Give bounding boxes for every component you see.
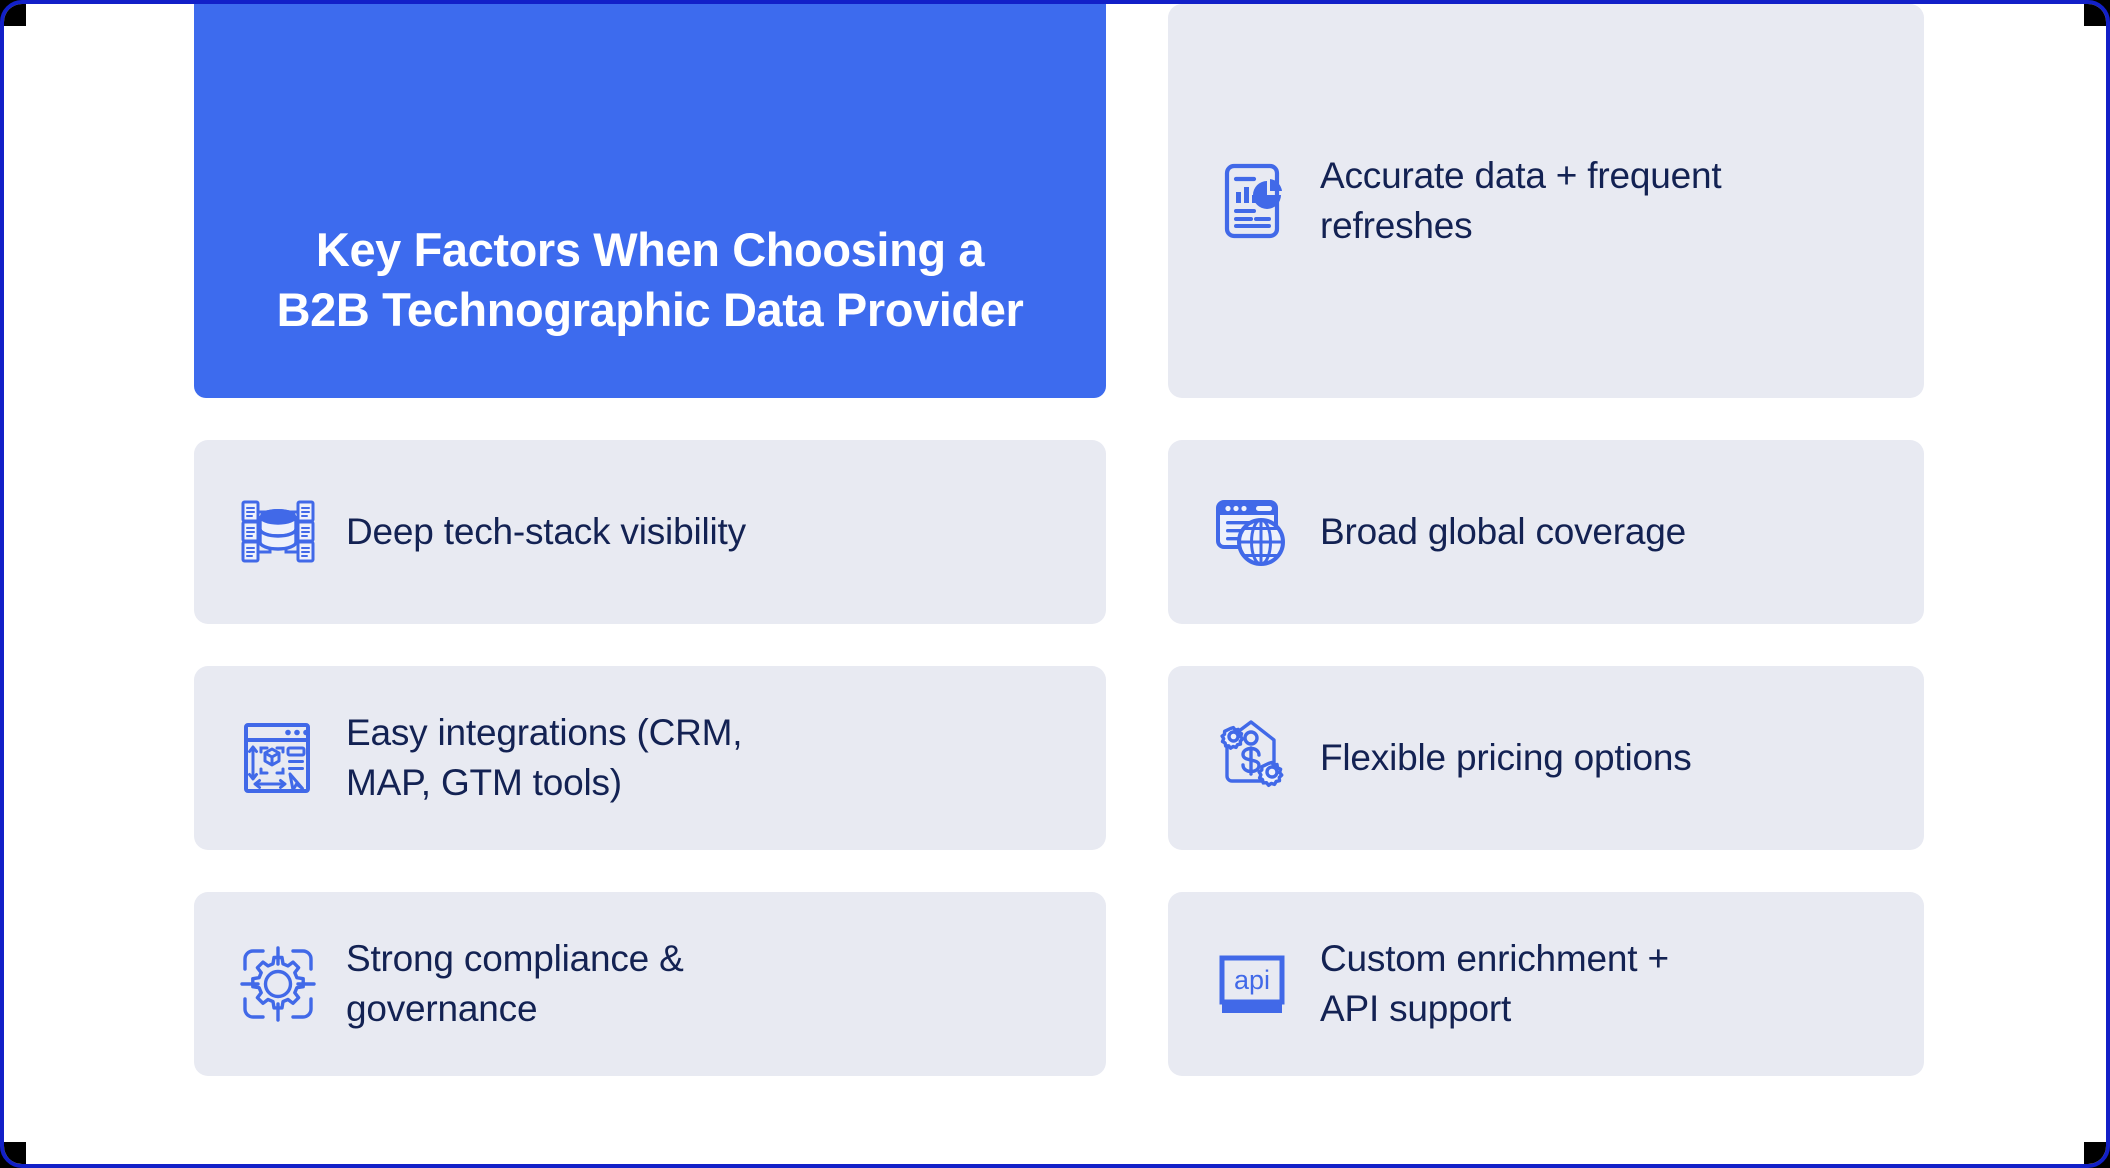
infographic-frame: Key Factors When Choosing a B2B Technogr… xyxy=(0,0,2110,1168)
card-compliance-governance[interactable]: Strong compliance & governance xyxy=(194,892,1106,1076)
database-network-icon xyxy=(236,490,320,574)
card-label: Flexible pricing options xyxy=(1320,733,1692,783)
card-tech-stack-visibility[interactable]: Deep tech-stack visibility xyxy=(194,440,1106,624)
card-flexible-pricing[interactable]: Flexible pricing options xyxy=(1168,666,1924,850)
card-easy-integrations[interactable]: Easy integrations (CRM, MAP, GTM tools) xyxy=(194,666,1106,850)
infographic-grid: Key Factors When Choosing a B2B Technogr… xyxy=(4,4,2110,1168)
title-card: Key Factors When Choosing a B2B Technogr… xyxy=(194,4,1106,398)
browser-cube-cursor-icon xyxy=(236,716,320,800)
card-label: Deep tech-stack visibility xyxy=(346,507,746,557)
card-label: Strong compliance & governance xyxy=(346,934,684,1033)
card-label: Accurate data + frequent refreshes xyxy=(1320,151,1721,250)
card-custom-enrichment-api[interactable]: api Custom enrichment + API support xyxy=(1168,892,1924,1076)
card-accurate-data[interactable]: Accurate data + frequent refreshes xyxy=(1168,4,1924,398)
gear-crosshair-icon xyxy=(236,942,320,1026)
api-icon-text: api xyxy=(1234,965,1270,995)
card-label: Broad global coverage xyxy=(1320,507,1686,557)
card-global-coverage[interactable]: Broad global coverage xyxy=(1168,440,1924,624)
api-window-icon: api xyxy=(1210,942,1294,1026)
report-chart-document-icon xyxy=(1210,159,1294,243)
price-tag-gears-icon xyxy=(1210,716,1294,800)
browser-globe-icon xyxy=(1210,490,1294,574)
page-title: Key Factors When Choosing a B2B Technogr… xyxy=(277,220,1024,340)
card-label: Custom enrichment + API support xyxy=(1320,934,1669,1033)
card-label: Easy integrations (CRM, MAP, GTM tools) xyxy=(346,708,742,807)
